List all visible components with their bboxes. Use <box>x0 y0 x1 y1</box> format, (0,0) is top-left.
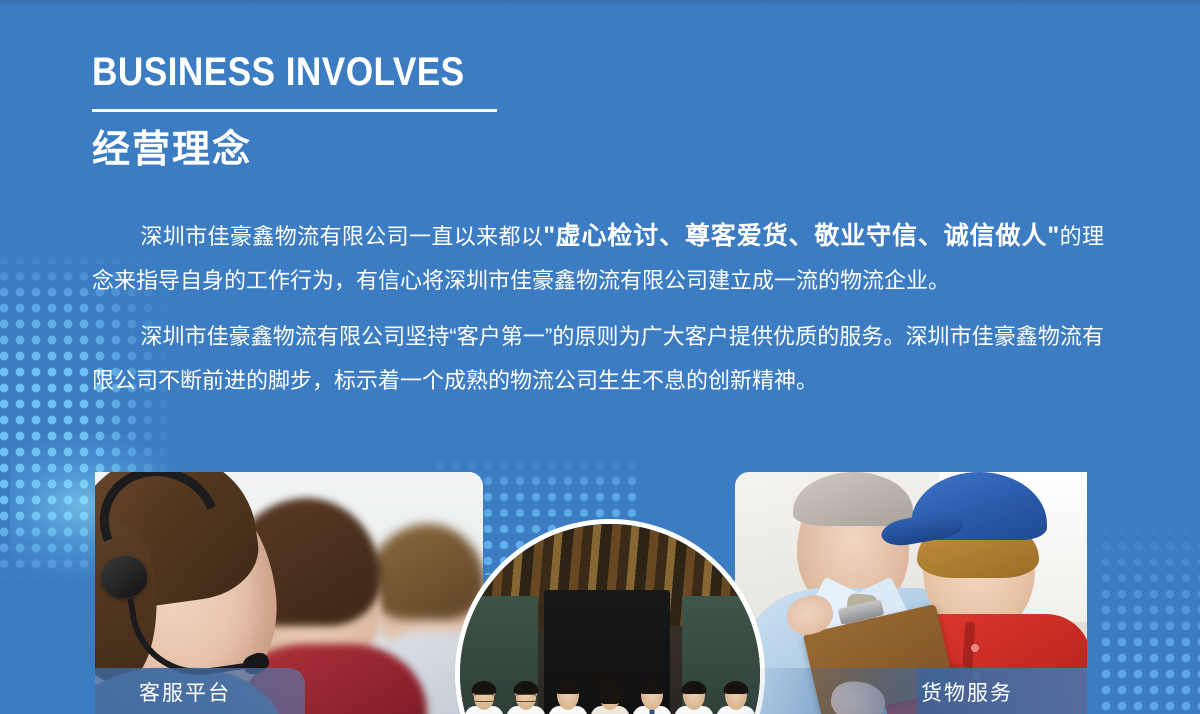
quote-open-mark: " <box>543 222 555 250</box>
page-title-english: BUSINESS INVOLVES <box>92 52 465 92</box>
photo-team-group[interactable] <box>455 519 765 714</box>
section-header: BUSINESS INVOLVES 经营理念 <box>92 52 515 173</box>
paragraph-two-text: 深圳市佳豪鑫物流有限公司坚持“客户第一”的原则为广大客户提供优质的服务。深圳市佳… <box>92 324 1104 393</box>
body-copy: 深圳市佳豪鑫物流有限公司一直以来都以"虚心检讨、尊客爱货、敬业守信、诚信做人"的… <box>92 214 1104 403</box>
paragraph-one-lead: 深圳市佳豪鑫物流有限公司一直以来都以 <box>140 224 543 249</box>
paragraph-one-emphasis: 虚心检讨、尊客爱货、敬业守信、诚信做人 <box>555 222 1047 250</box>
page-title-chinese: 经营理念 <box>92 129 515 173</box>
paragraph-two: 深圳市佳豪鑫物流有限公司坚持“客户第一”的原则为广大客户提供优质的服务。深圳市佳… <box>92 315 1104 403</box>
banner-canvas: BUSINESS INVOLVES 经营理念 深圳市佳豪鑫物流有限公司一直以来都… <box>0 0 1200 714</box>
quote-close-mark: " <box>1047 222 1059 250</box>
caption-cargo-service-label: 货物服务 <box>921 677 1013 707</box>
caption-customer-service-label: 客服平台 <box>139 677 231 707</box>
top-accent-band <box>0 0 1200 5</box>
team-group-illustration <box>460 524 760 714</box>
caption-customer-service[interactable]: 客服平台 <box>95 668 305 714</box>
paragraph-one: 深圳市佳豪鑫物流有限公司一直以来都以"虚心检讨、尊客爱货、敬业守信、诚信做人"的… <box>92 214 1104 303</box>
title-divider-rule <box>92 109 497 112</box>
caption-cargo-service[interactable]: 货物服务 <box>917 668 1087 714</box>
